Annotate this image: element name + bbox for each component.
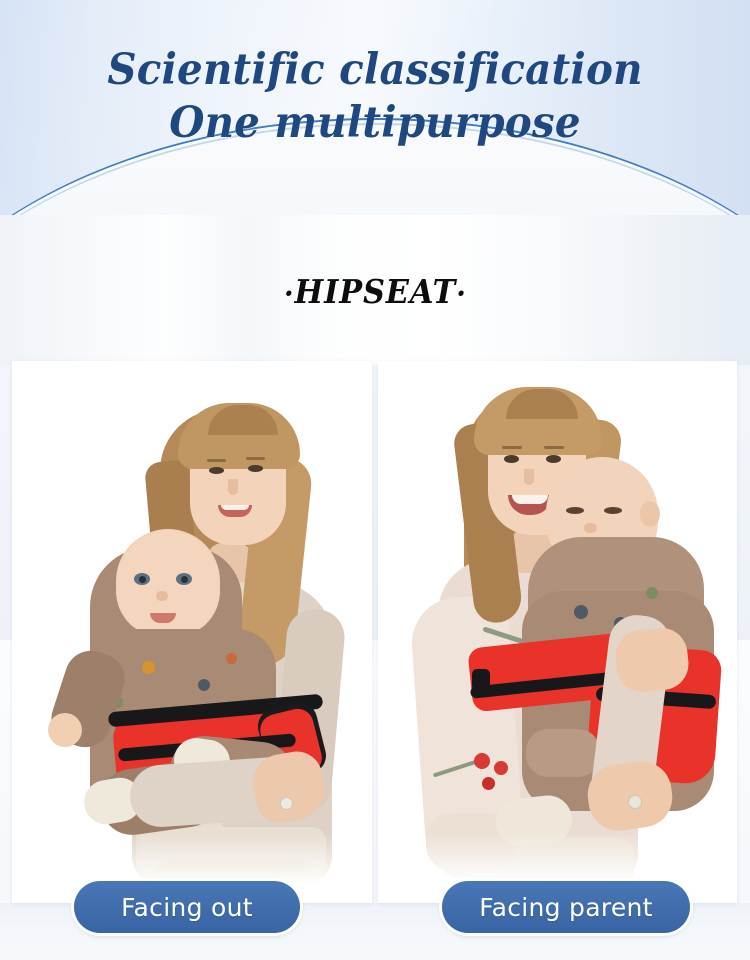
facing-parent-button-label: Facing parent [479, 893, 653, 922]
panel-facing-parent[interactable] [378, 361, 737, 903]
baby-romper-cuff [526, 729, 600, 777]
brand-text-group: ·HIPSEAT· [284, 272, 467, 312]
sleeve-flower [494, 761, 508, 775]
mother-ring [280, 797, 293, 810]
mother-eyebrow-left [502, 446, 522, 449]
brand-label: HIPSEAT [294, 272, 456, 311]
promo-page: Scientific classification One multipurpo… [0, 0, 750, 960]
romper-print-dot [198, 679, 210, 691]
photo-facing-out [12, 361, 372, 903]
title-line-2: One multipurpose [23, 97, 728, 150]
panel-facing-out[interactable] [12, 361, 372, 903]
mother-ring [628, 795, 642, 809]
baby-hand-left [48, 713, 82, 747]
facing-out-button-label: Facing out [121, 893, 253, 922]
sleeve-flower [482, 777, 495, 790]
brand-wordmark: ·HIPSEAT· [0, 272, 750, 312]
romper-print-dot [226, 653, 237, 664]
romper-print-dot [142, 661, 155, 674]
mother-eye-right [248, 465, 263, 472]
mother-eye-right [546, 455, 561, 463]
mother-teeth [221, 505, 249, 510]
baby-eye-left [566, 507, 584, 514]
photo-facing-parent [378, 361, 737, 903]
baby-nose [156, 591, 168, 601]
romper-print-dot [646, 587, 658, 599]
brand-lead-dot: · [284, 277, 295, 312]
mother-eye-left [209, 467, 224, 474]
mother-teeth [512, 495, 548, 504]
mother-nose [228, 479, 238, 495]
baby-nose [584, 523, 597, 533]
baby-pupil-right [181, 576, 188, 583]
mother-eyebrow-right [246, 457, 265, 460]
mother-eyebrow-left [207, 459, 226, 462]
sleeve-flower [474, 753, 490, 769]
baby-pupil-left [139, 576, 146, 583]
mother-eyebrow-right [544, 446, 564, 449]
title-line-1: Scientific classification [23, 44, 728, 97]
baby-eye-right [604, 507, 622, 514]
mother-eye-left [504, 455, 519, 463]
baby-ear [640, 501, 660, 527]
facing-out-button[interactable]: Facing out [74, 881, 300, 933]
page-title: Scientific classification One multipurpo… [0, 44, 750, 150]
facing-parent-button[interactable]: Facing parent [442, 881, 690, 933]
romper-print-dot [574, 605, 588, 619]
brand-trail-dot: · [456, 277, 467, 312]
hipseat-buckle-left [472, 669, 490, 691]
mother-nose [524, 469, 534, 485]
